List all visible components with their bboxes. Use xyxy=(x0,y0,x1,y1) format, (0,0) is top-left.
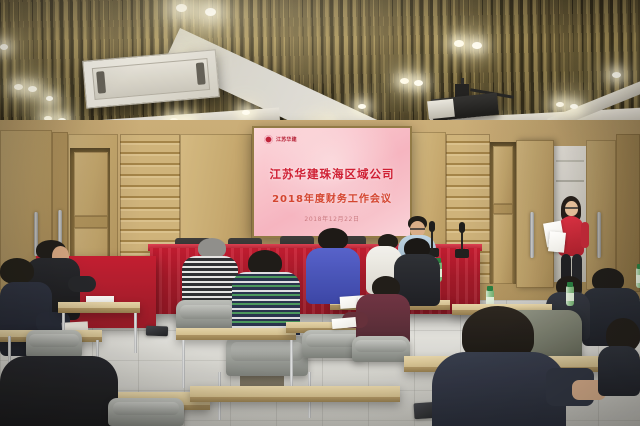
downlight-icon xyxy=(0,44,8,50)
projector-lens-icon xyxy=(427,99,455,120)
downlight-icon xyxy=(414,80,423,86)
screen-company-line: 江苏华建珠海区域公司 xyxy=(254,166,410,182)
presenter-glasses-icon xyxy=(410,228,425,230)
documents-on-desk xyxy=(332,317,357,329)
downlight-icon xyxy=(14,84,23,90)
woman-glasses-icon xyxy=(565,207,578,209)
desk-leg xyxy=(134,313,137,353)
downlight-icon xyxy=(242,110,250,115)
downlight-icon xyxy=(358,104,366,109)
chair[interactable] xyxy=(176,300,238,330)
desk xyxy=(58,302,140,313)
projection-screen: 江苏华建 江苏华建珠海区域公司 2018年度财务工作会议 2018年12月22日 xyxy=(254,128,410,236)
smartphone-on-desk[interactable] xyxy=(146,326,168,337)
chair[interactable] xyxy=(26,330,82,358)
water-bottle xyxy=(566,286,574,306)
downlight-icon xyxy=(205,8,216,16)
bottle-cap xyxy=(567,282,573,287)
attendee-dark-jacket xyxy=(0,356,118,426)
attendee-hair xyxy=(0,258,34,284)
chair[interactable] xyxy=(108,398,184,426)
woman-arm-right xyxy=(581,222,589,248)
downlight-icon xyxy=(400,78,409,84)
downlight-icon xyxy=(612,72,621,78)
desk-leg xyxy=(182,340,185,388)
downlight-icon xyxy=(46,96,53,101)
projection-screen-frame: 江苏华建 江苏华建珠海区域公司 2018年度财务工作会议 2018年12月22日 xyxy=(252,126,412,238)
microphone-icon xyxy=(459,222,465,233)
bottle-cap xyxy=(487,286,493,291)
ac-grille xyxy=(92,58,210,100)
logo-text: 江苏华建 xyxy=(276,136,297,143)
bottle-label xyxy=(566,293,574,301)
desk-edge xyxy=(190,397,400,402)
company-logo: 江苏华建 xyxy=(264,135,297,144)
chair[interactable] xyxy=(226,336,308,376)
downlight-icon xyxy=(570,104,578,109)
attendee-hair-gray xyxy=(198,238,226,258)
attendee-hair xyxy=(318,228,348,250)
downlight-icon xyxy=(176,4,187,12)
downlight-icon xyxy=(556,102,564,107)
microphone-icon xyxy=(429,221,435,232)
attendee-arm xyxy=(68,276,96,292)
downlight-icon xyxy=(28,86,37,92)
water-bottle xyxy=(636,268,640,288)
bottle-label xyxy=(636,275,640,283)
logo-mark-icon xyxy=(264,135,273,144)
conference-room-photo: 江苏华建 江苏华建珠海区域公司 2018年度财务工作会议 2018年12月22日 xyxy=(0,0,640,426)
downlight-icon xyxy=(454,40,464,47)
desk-foreground xyxy=(190,386,400,402)
screen-date-line: 2018年12月22日 xyxy=(254,214,410,223)
desk-leg xyxy=(290,340,293,386)
woman-documents xyxy=(548,231,566,253)
attendee-dark-top xyxy=(598,346,640,396)
chair[interactable] xyxy=(352,336,410,362)
downlight-icon xyxy=(472,42,482,49)
microphone-base xyxy=(455,249,469,258)
screen-meeting-line: 2018年度财务工作会议 xyxy=(254,190,410,205)
desk-edge xyxy=(58,308,140,313)
desk-edge xyxy=(176,335,296,340)
desk xyxy=(176,328,296,340)
